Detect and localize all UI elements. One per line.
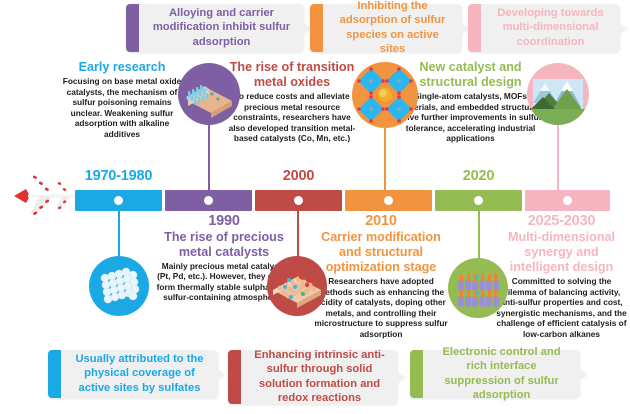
timeline-segment-2020[interactable] [435, 190, 522, 211]
stage-heading: Multi-dimensional synergy and intelligen… [495, 230, 628, 275]
stage-body: Committed to solving the dilemma of bala… [495, 276, 628, 339]
illustration-layered-slab-icon [178, 63, 240, 125]
airplane-icon [6, 172, 82, 220]
year-label: 2020 [435, 168, 522, 185]
stage-text-transition-metal-oxides: The rise of transition metal oxides To r… [228, 60, 356, 144]
timeline-year-2000: 2000 [255, 168, 342, 185]
banner-color-tab [48, 350, 61, 398]
layered-slab-graphic [178, 63, 240, 125]
timeline-dot [474, 196, 483, 205]
connector-line-orange [384, 128, 386, 191]
connector-line-blue [118, 211, 120, 256]
doped-surface-graphic [267, 256, 327, 316]
banner-text: Developing towards multi-dimensional coo… [481, 4, 620, 52]
stage-text-carrier-modification: 2010 Carrier modification and structural… [313, 213, 449, 339]
stage-heading: Carrier modification and structural opti… [313, 230, 449, 275]
metal-oxide-lattice-graphic [448, 258, 508, 318]
timeline-year-2020: 2020 [435, 168, 522, 185]
top-banner-1: Alloying and carrier modification inhibi… [126, 4, 304, 52]
illustration-sphere-cluster-icon [89, 256, 149, 316]
mof-diamond-graphic [352, 62, 418, 128]
timeline-segment-2025-2030[interactable] [525, 190, 610, 211]
illustration-doped-surface-icon [267, 256, 327, 316]
banner-text: Usually attributed to the physical cover… [61, 350, 218, 398]
timeline-year-1970-1980: 1970-1980 [75, 168, 162, 185]
stage-body: Researchers have adopted methods such as… [313, 276, 449, 339]
timeline-dot [563, 196, 572, 205]
timeline-segment-2000[interactable] [255, 190, 342, 211]
banner-color-tab [468, 4, 481, 52]
illustration-mountain-landscape-icon [527, 63, 589, 125]
timeline-dot [384, 196, 393, 205]
stage-heading: Early research [56, 60, 188, 75]
stage-heading: New catalyst and structural design [398, 60, 543, 90]
connector-line-red [297, 211, 299, 256]
banner-text: Alloying and carrier modification inhibi… [139, 4, 304, 52]
banner-text: Electronic control and rich interface su… [423, 350, 580, 398]
year-label: 2000 [255, 168, 342, 185]
stage-text-multi-dimensional-synergy: 2025-2030 Multi-dimensional synergy and … [495, 213, 628, 339]
bottom-banner-1: Usually attributed to the physical cover… [48, 350, 218, 398]
illustration-metal-oxide-lattice-icon [448, 258, 508, 318]
connector-line-green [478, 211, 480, 258]
year-label: 1990 [156, 213, 292, 230]
banner-text: Inhibiting the adsorption of sulfur spec… [323, 4, 462, 52]
year-label: 1970-1980 [75, 168, 162, 185]
mountain-landscape-graphic [527, 63, 589, 125]
top-banner-2: Inhibiting the adsorption of sulfur spec… [310, 4, 462, 52]
bottom-banner-2: Enhancing intrinsic anti-sulfur through … [228, 350, 398, 404]
banner-color-tab [410, 350, 423, 398]
banner-color-tab [126, 4, 139, 52]
banner-color-tab [310, 4, 323, 52]
connector-line-purple [208, 125, 210, 191]
timeline-segment-1970-1980[interactable] [75, 190, 162, 211]
year-label: 2025-2030 [495, 213, 628, 230]
timeline-dot [294, 196, 303, 205]
infographic-timeline: Alloying and carrier modification inhibi… [0, 0, 630, 414]
banner-color-tab [228, 350, 241, 404]
timeline-dot [114, 196, 123, 205]
illustration-mof-diamond-icon [352, 62, 418, 128]
top-banner-3: Developing towards multi-dimensional coo… [468, 4, 620, 52]
sphere-cluster-graphic [89, 256, 149, 316]
timeline-dot [204, 196, 213, 205]
timeline-segment-2010[interactable] [345, 190, 432, 211]
airplane-graphic [6, 172, 82, 220]
stage-body: To reduce costs and alleviate precious m… [228, 91, 356, 144]
timeline-segment-1990[interactable] [165, 190, 252, 211]
connector-line-pink [557, 125, 559, 191]
stage-body: Focusing on base metal oxide catalysts, … [56, 76, 188, 139]
bottom-banner-3: Electronic control and rich interface su… [410, 350, 580, 398]
stage-heading: The rise of transition metal oxides [228, 60, 356, 90]
banner-text: Enhancing intrinsic anti-sulfur through … [241, 350, 398, 404]
year-label: 2010 [313, 213, 449, 230]
stage-text-new-catalyst-design: New catalyst and structural design Singl… [398, 60, 543, 144]
stage-body: Single-atom catalysts, MOFs materials, a… [398, 91, 543, 144]
stage-text-early-research: Early research Focusing on base metal ox… [56, 60, 188, 139]
